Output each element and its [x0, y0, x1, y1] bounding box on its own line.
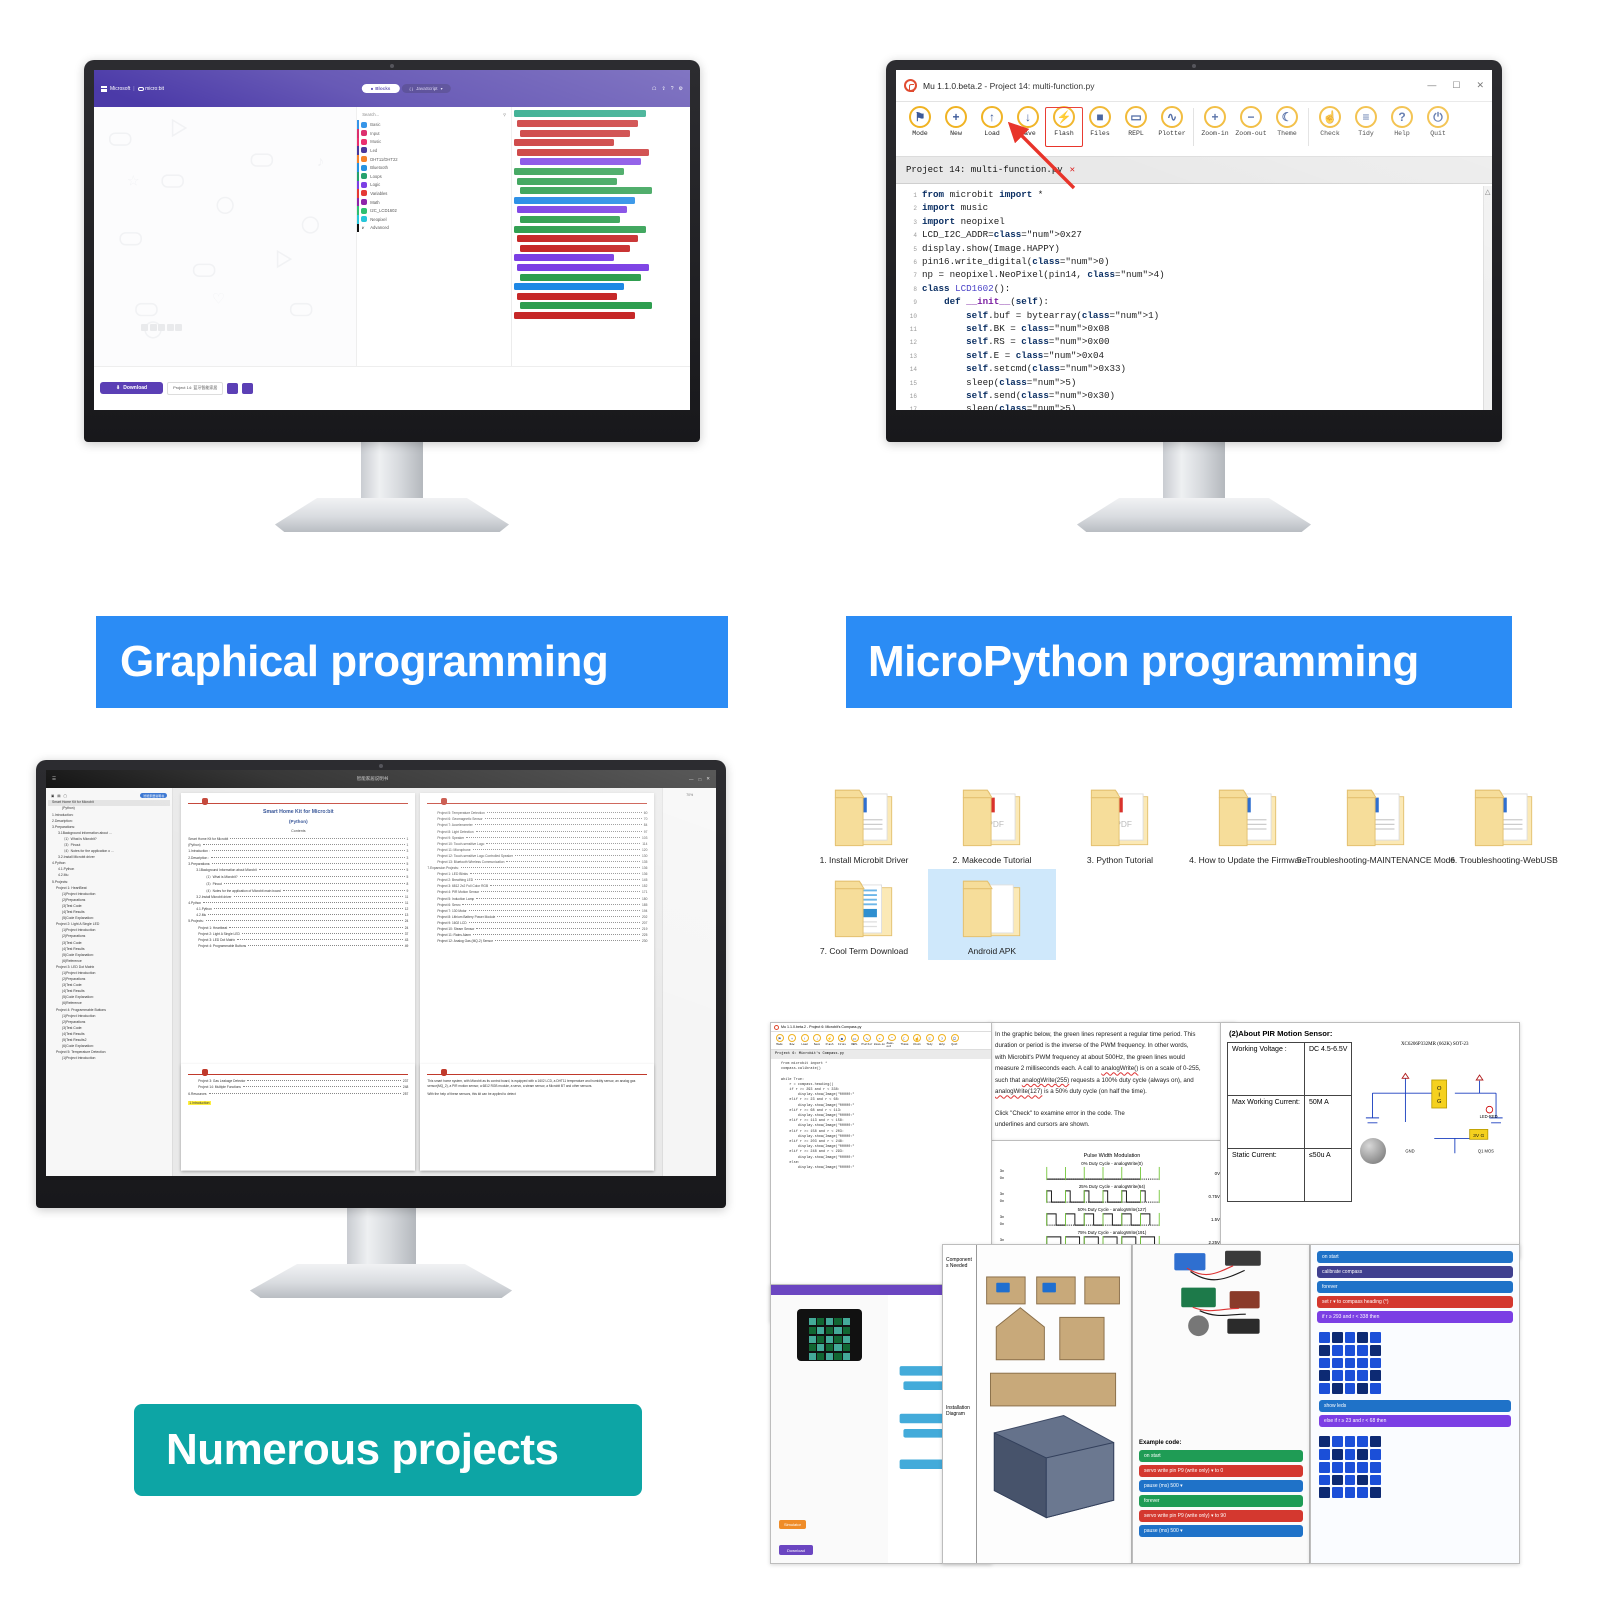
stop-icon[interactable]: [141, 324, 148, 331]
pdf-toc-row[interactable]: 5.Projects:24: [188, 919, 408, 923]
screen-makecode: Microsoft | micro:bit ■ Blocks: [94, 70, 690, 410]
pdf-right-toolbar[interactable]: 70%: [662, 788, 716, 1176]
code-line[interactable]: import neopixel: [922, 215, 1483, 228]
pdf-toc-row[interactable]: Project 3: LED Dot Matrix43: [188, 938, 408, 942]
pdf-outline-item[interactable]: (1)Project Introduction: [48, 1056, 170, 1062]
pdf-zoom-level[interactable]: 70%: [663, 793, 716, 797]
close-button[interactable]: ✕: [1476, 80, 1484, 91]
pdf-toc-row[interactable]: Project 5: Induction Lamp180: [427, 897, 647, 901]
mu-file-tab[interactable]: Project 14: multi-function.py ✕: [896, 157, 1492, 184]
pdf-toc-row[interactable]: Smart Home Kit for Microbit1: [188, 837, 408, 841]
pdf-toc-row[interactable]: 3.1Background Information about Microbit…: [188, 868, 408, 872]
settings-button[interactable]: [242, 383, 253, 394]
code-line[interactable]: from microbit import *: [922, 188, 1483, 201]
zoom-out-icon: −: [1240, 106, 1262, 128]
pdf-toc-row[interactable]: Project 8: Light Detection97: [427, 830, 647, 834]
mu-mini-tool-tidy[interactable]: ≡Tidy: [924, 1034, 935, 1047]
mu-tool-zoom-out[interactable]: −Zoom-out: [1233, 106, 1269, 153]
makecode-bottombar: ⬇ Download Project 14: 蓝牙智能家居: [94, 366, 690, 410]
pdf-toc-row[interactable]: Project 11: Rains Alarm225: [427, 933, 647, 937]
pwm-y-axis: 3v0v: [995, 1190, 1004, 1204]
folder-label: 6. Troubleshooting-WebUSB: [1450, 855, 1558, 865]
mute-icon[interactable]: [167, 324, 174, 331]
mu-mini-tool-files[interactable]: ■Files: [837, 1034, 848, 1047]
makecode-block[interactable]: on start: [1139, 1450, 1303, 1462]
restart-icon[interactable]: [150, 324, 157, 331]
code-block[interactable]: [514, 254, 614, 261]
banner-micropython-programming: MicroPython programming: [846, 616, 1512, 708]
share-icon[interactable]: ⇪: [662, 86, 666, 92]
pdf-toc-title: 6.Resources: [188, 1092, 206, 1096]
toolbox-category-neopixel[interactable]: Neopixel: [357, 215, 511, 224]
pdf-toc-row[interactable]: Project 13: Bluetooth Wireless Communica…: [427, 860, 647, 864]
pdf-toc-row[interactable]: Project 10: Touch-sensitive Logo114: [427, 842, 647, 846]
mu-tool-flash[interactable]: ⚡Flash: [1046, 106, 1082, 153]
pdf-toc-dots: [248, 945, 403, 946]
folder-icon: PDF: [956, 784, 1028, 850]
folder-item[interactable]: 7. Cool Term Download: [800, 869, 928, 960]
mu-mini-tool-check[interactable]: ☝Check: [912, 1034, 923, 1047]
mu-mini-tool-quit[interactable]: ⏻Quit: [949, 1034, 960, 1047]
mu-mini-tool-help[interactable]: ?Help: [937, 1034, 948, 1047]
mu-mini-title: Mu 1.1.0.beta.2 - Project 6: Microbit's …: [781, 1025, 861, 1029]
question-icon: ?: [938, 1034, 946, 1042]
pdf-toc-page: 135: [642, 860, 647, 864]
pdf-toc-row[interactable]: 4.1.Python12: [188, 907, 408, 911]
makecode-block[interactable]: else if r ≥ 23 and r < 68 then: [1319, 1415, 1511, 1427]
mu-mini-code-line[interactable]: display.show(Image("00000:": [781, 1166, 988, 1171]
monitor-bezel-makecode: Microsoft | micro:bit ■ Blocks: [84, 60, 700, 442]
pdf-toc-page: 24: [405, 926, 409, 930]
mu-mini-tab[interactable]: Project 6: Microbit's Compass.py: [771, 1050, 991, 1059]
pdf-toc-dots: [495, 940, 640, 941]
compass-block-list-2: show ledselse if r ≥ 23 and r < 68 then: [1311, 1394, 1519, 1436]
code-block[interactable]: [520, 302, 652, 309]
category-icon: [361, 130, 367, 136]
code-line[interactable]: LCD_I2C_ADDR=class="num">0x27: [922, 228, 1483, 241]
category-icon: [361, 173, 367, 179]
category-icon: [361, 156, 367, 162]
code-block[interactable]: [517, 206, 627, 213]
code-line[interactable]: sleep(class="num">5): [922, 376, 1483, 389]
mu-code-area[interactable]: 123456789101112131415161718 from microbi…: [896, 184, 1492, 410]
pir-spec-row: Max Working Current:50M A: [1228, 1096, 1352, 1149]
pdf-toc-title: Project 12: Touch-sensitive Logo Control…: [427, 854, 513, 858]
toolbox-category-music[interactable]: Music: [357, 138, 511, 147]
code-block[interactable]: [517, 293, 617, 300]
pdf-toc-title: 4.1.Python: [188, 907, 212, 911]
pir-spec-key: Max Working Current:: [1228, 1096, 1305, 1149]
mu-mini-tool-label: Tidy: [926, 1043, 932, 1046]
thumbs-up-icon: ☝: [1319, 106, 1341, 128]
mu-tool-quit[interactable]: ⏻Quit: [1420, 106, 1456, 153]
screen-mu: Mu 1.1.0.beta.2 - Project 14: multi-func…: [896, 70, 1492, 410]
home-icon[interactable]: ☖: [652, 86, 656, 92]
monitor-neck: [361, 442, 423, 498]
pdf-toc-page: 43: [405, 938, 409, 942]
mu-mini-tool-label: Load: [801, 1043, 807, 1046]
pdf-toc-row[interactable]: Project 4: Programmable Buttons49: [188, 944, 408, 948]
folder-item[interactable]: 1. Install Microbit Driver: [800, 778, 928, 869]
pdf-toc-row[interactable]: Project 5: Temperature Detection60: [427, 811, 647, 815]
project-name-input[interactable]: Project 14: 蓝牙智能家居: [167, 382, 223, 395]
code-block[interactable]: [517, 178, 617, 185]
screenshot-collage: In the graphic below, the green lines re…: [770, 1022, 1570, 1562]
code-line[interactable]: self.buf = bytearray(class="num">1): [922, 309, 1483, 322]
makecode-block[interactable]: forever: [1317, 1281, 1513, 1293]
download-button[interactable]: ⬇ Download: [100, 382, 163, 394]
mu-tool-check[interactable]: ☝Check: [1312, 106, 1348, 153]
pwm-y-high: 3v: [995, 1167, 1004, 1174]
line-number-gutter: 123456789101112131415161718: [896, 186, 922, 410]
block-stack[interactable]: [512, 107, 690, 410]
code-block[interactable]: [514, 226, 646, 233]
pdf-toc-title: Project 4: Programmable Buttons: [188, 944, 246, 948]
code-line[interactable]: def __init__(self):: [922, 295, 1483, 308]
flag-icon: ⚑: [776, 1034, 784, 1042]
pdf-toc-row[interactable]: Project 6: Servo185: [427, 903, 647, 907]
code-line[interactable]: import music: [922, 201, 1483, 214]
slow-motion-icon[interactable]: [158, 324, 165, 331]
mu-mini-code[interactable]: from microbit import *compass.calibrate(…: [771, 1059, 991, 1174]
folder-label: Android APK: [968, 946, 1016, 956]
pdf-toc-title: Project 12: Analog Gas (MQ-2) Sensor: [427, 939, 493, 943]
mu-tool-files[interactable]: ■Files: [1082, 106, 1118, 153]
toolbox-category-dht11-dht22[interactable]: DHT11/DHT22: [357, 155, 511, 164]
mu-mini-tool-label: Mode: [776, 1043, 782, 1046]
outline-icon[interactable]: ▤: [57, 794, 60, 798]
tab-close-icon[interactable]: ✕: [1070, 165, 1075, 175]
code-block[interactable]: [514, 168, 624, 175]
example-code-title: Example code:: [1139, 1440, 1303, 1446]
pdf-toc-title: Project 6: Geomagnetic Sensor: [427, 817, 482, 821]
pdf-toc-page: 9: [407, 889, 409, 893]
pdf-toc-row[interactable]: 1.Introduction :3: [188, 849, 408, 853]
toolbox-category-input[interactable]: Input: [357, 129, 511, 138]
upload-icon: ↑: [981, 106, 1003, 128]
code-block[interactable]: [520, 187, 652, 194]
pwm-description-text: In the graphic below, the green lines re…: [989, 1023, 1235, 1137]
pdf-toc-title: 3.Preparations:: [188, 862, 210, 866]
code-block[interactable]: [517, 264, 649, 271]
search-input[interactable]: Search... ⚲: [357, 110, 511, 120]
code-line[interactable]: np = neopixel.NeoPixel(pin14, class="num…: [922, 268, 1483, 281]
pdf-toc-row[interactable]: （3）Pinout8: [188, 881, 408, 886]
pdf-toc-row[interactable]: Project 1: LED Blinks136: [427, 872, 647, 876]
pdf-toc-dots: [209, 1093, 401, 1094]
pdf-toc-row[interactable]: 7.Expansion Projects:136: [427, 866, 647, 870]
makecode-block[interactable]: pause (ms) 500 ▾: [1139, 1525, 1303, 1537]
svg-text:G: G: [1437, 1099, 1442, 1105]
mu-tool-zoom-in[interactable]: +Zoom-in: [1197, 106, 1233, 153]
code-block[interactable]: [514, 283, 624, 290]
makecode-block[interactable]: forever: [1139, 1495, 1303, 1507]
mu-mini-tool-flash[interactable]: ⚡Flash: [824, 1034, 835, 1047]
pdf-toc-title: Project 3: LED Dot Matrix: [188, 938, 235, 942]
code-block[interactable]: [514, 110, 646, 117]
pdf-toc-dots: [476, 831, 642, 832]
makecode-block[interactable]: set r ▾ to compass heading (°): [1317, 1296, 1513, 1308]
pdf-toc-row[interactable]: Project 7: Accelerometer84: [427, 823, 647, 827]
code-line[interactable]: self.E = class="num">0x04: [922, 349, 1483, 362]
mu-mini-tool-repl[interactable]: ▭REPL: [849, 1034, 860, 1047]
pdf-toc-row[interactable]: 4.Python11: [188, 901, 408, 905]
pdf-toc-row[interactable]: Project 12: Analog Gas (MQ-2) Sensor230: [427, 939, 647, 943]
toolbox-category-advanced[interactable]: ∨Advanced: [357, 224, 511, 233]
folder-item[interactable]: PDF3. Python Tutorial: [1056, 778, 1184, 869]
pdf-toc-row[interactable]: Project 3: 6812 2x2 Full Color RGB152: [427, 884, 647, 888]
category-label: Basic: [370, 122, 380, 127]
pdf-toc-row[interactable]: 3.Preparations:5: [188, 862, 408, 866]
code-block[interactable]: [520, 245, 630, 252]
pwm-y-high: 3v: [995, 1190, 1004, 1197]
pir-spec-key: Working Voltage :: [1228, 1043, 1305, 1096]
keyestudio-logo-icon: [202, 798, 208, 805]
tab-blocks[interactable]: ■ Blocks: [362, 84, 400, 93]
makecode-block[interactable]: pause (ms) 500 ▾: [1139, 1480, 1303, 1492]
pdf-toc-row[interactable]: Project 3: Gas Leakage Detector237: [188, 1079, 408, 1083]
monitor-neck: [347, 1208, 416, 1264]
code-text[interactable]: from microbit import *import musicimport…: [922, 186, 1483, 410]
pir-circuit-icon: O I G 3V G Q1 MOS GND LED-RED: [1356, 1047, 1513, 1197]
mini-download-button[interactable]: Download: [779, 1545, 813, 1555]
code-block[interactable]: [514, 197, 635, 204]
pdf-toc-title: 7.Expansion Projects:: [427, 866, 458, 870]
code-line[interactable]: sleep(class="num">5): [922, 402, 1483, 410]
pdf-toc-row[interactable]: Project 10: Steam Sensor219: [427, 927, 647, 931]
pdf-toc-page: 5: [407, 875, 409, 879]
code-block[interactable]: [520, 158, 641, 165]
toolbox-category-math[interactable]: Math: [357, 198, 511, 207]
pdf-toc-row[interactable]: Project 14: Multiple Functions248: [188, 1085, 408, 1089]
mu-mini-tool-zoom-out[interactable]: −Zoom-out: [887, 1034, 898, 1047]
code-block[interactable]: [514, 312, 635, 319]
code-block[interactable]: [520, 216, 620, 223]
folder-item[interactable]: PDF2. Makecode Tutorial: [928, 778, 1056, 869]
pwm-y-axis: 3v0v: [995, 1167, 1004, 1181]
pdf-toc-row[interactable]: 2.Description :3: [188, 856, 408, 860]
toolbox-category-i2c-lcd1602[interactable]: I2C_LCD1602: [357, 206, 511, 215]
code-block[interactable]: [514, 139, 614, 146]
code-line[interactable]: self.RS = class="num">0x00: [922, 335, 1483, 348]
pdf-toc-row[interactable]: （4）Notes for the application of Microbit…: [188, 888, 408, 893]
pdf-contents-label: Contents: [188, 829, 408, 833]
monitor-neck: [1163, 442, 1225, 498]
pdf-toc-row[interactable]: Project 2: Breathing LED145: [427, 878, 647, 882]
pdf-toc-dots: [487, 812, 642, 813]
mu-mini-toolbar[interactable]: ⚑Mode+New↑Load↓Save⚡Flash■Files▭REPL∿Plo…: [771, 1032, 991, 1050]
code-line[interactable]: class LCD1602():: [922, 282, 1483, 295]
pdf-maximize-icon[interactable]: □: [699, 777, 702, 782]
pwm-voltage: 0.75V: [1202, 1194, 1220, 1199]
pdf-toc-row[interactable]: (Python)1: [188, 843, 408, 847]
folder-icon: [828, 875, 900, 941]
mu-tool-tidy[interactable]: ≡Tidy: [1348, 106, 1384, 153]
scroll-up-icon[interactable]: △: [1485, 188, 1490, 196]
mu-tool-plotter[interactable]: ∿Plotter: [1154, 106, 1190, 153]
mu-tool-theme[interactable]: ☾Theme: [1269, 106, 1305, 153]
search-icon: ⚲: [503, 112, 506, 117]
moon-icon: ☾: [1276, 106, 1298, 128]
vertical-scrollbar[interactable]: △: [1483, 186, 1492, 410]
makecode-block[interactable]: servo write pin P9 (write only) ▾ to 0: [1139, 1465, 1303, 1477]
pdf-toc-row[interactable]: Project 6: Geomagnetic Sensor70: [427, 817, 647, 821]
toolbox-category-led[interactable]: Led: [357, 146, 511, 155]
pwm-chart-row: 50% Duty Cycle - analogWrite(127)3v0v1.5…: [995, 1207, 1229, 1227]
code-block[interactable]: [517, 149, 649, 156]
pdf-toc-page: 5: [407, 862, 409, 866]
pwm-y-low: 0v: [995, 1220, 1004, 1227]
code-line[interactable]: pin16.write_digital(class="num">0): [922, 255, 1483, 268]
wiring-photo-icon: [1133, 1245, 1309, 1429]
pdf-toc-dots: [485, 818, 642, 819]
mu-mini-tool-label: Zoom-in: [874, 1043, 885, 1046]
pir-spec-value: 50M A: [1304, 1096, 1352, 1149]
code-block[interactable]: [520, 130, 630, 137]
bookmark-icon[interactable]: ▢: [63, 794, 66, 798]
pdf-toc-row[interactable]: Project 8: Lithium Battery Power Module2…: [427, 915, 647, 919]
makecode-block[interactable]: calibrate compass: [1317, 1266, 1513, 1278]
pdf-toc-page: 130: [642, 854, 647, 858]
pwm-chart-row: 0% Duty Cycle - analogWrite(0)3v0v0V: [995, 1161, 1229, 1181]
help-icon[interactable]: ?: [671, 86, 674, 92]
code-line[interactable]: display.show(Image.HAPPY): [922, 242, 1483, 255]
minimize-button[interactable]: —: [1427, 80, 1436, 91]
pdf-toc-title: Project 9: 1602 LCD: [427, 921, 466, 925]
mu-mini-tool-load[interactable]: ↑Load: [799, 1034, 810, 1047]
app-menu-icon[interactable]: ☰: [52, 776, 56, 782]
category-label: Logic: [370, 182, 380, 187]
pdf-toc-row[interactable]: Project 12: Touch-sensitive Logo Control…: [427, 854, 647, 858]
pdf-toc-title: Project 3: Gas Leakage Detector: [188, 1079, 245, 1083]
pdf-toc-page: 11: [405, 901, 408, 905]
microsoft-logo: Microsoft | micro:bit: [101, 86, 164, 92]
mu-mini-tool-zoom-in[interactable]: +Zoom-in: [874, 1034, 885, 1047]
line-number: 7: [896, 269, 917, 282]
mu-tool-load[interactable]: ↑Load: [974, 106, 1010, 153]
toolbox-category-logic[interactable]: Logic: [357, 181, 511, 190]
pir-title: (2)About PIR Motion Sensor:: [1221, 1023, 1519, 1042]
pdf-toc-title: Project 8: Light Detection: [427, 830, 473, 834]
pdf-close-icon[interactable]: ✕: [706, 776, 710, 782]
fullscreen-icon[interactable]: [175, 324, 182, 331]
mu-tool-save[interactable]: ↓Save: [1010, 106, 1046, 153]
folder-icon: [828, 784, 900, 850]
mu-tool-new[interactable]: +New: [938, 106, 974, 153]
pdf-toc-row[interactable]: Project 9: 1602 LCD207: [427, 921, 647, 925]
mu-tool-repl[interactable]: ▭REPL: [1118, 106, 1154, 153]
folder-items[interactable]: 1. Install Microbit DriverPDF2. Makecode…: [800, 778, 1570, 960]
pdf-toc-page: 24: [405, 919, 409, 923]
pir-spec-key: Static Current:: [1228, 1149, 1305, 1202]
category-icon: [361, 139, 367, 145]
maximize-button[interactable]: ☐: [1452, 80, 1460, 91]
code-line[interactable]: self.BK = class="num">0x08: [922, 322, 1483, 335]
makecode-block[interactable]: servo write pin P9 (write only) ▾ to 90: [1139, 1510, 1303, 1522]
pdf-page-header: [427, 1070, 647, 1075]
code-block[interactable]: [517, 120, 638, 127]
toolbox-category-bluetooth[interactable]: Bluetooth: [357, 163, 511, 172]
makecode-block[interactable]: if r ≥ 293 and r < 338 then: [1317, 1311, 1513, 1323]
mu-mini-tool-mode[interactable]: ⚑Mode: [774, 1034, 785, 1047]
pdf-outline-sidebar[interactable]: ▣ ▤ ▢ 智能家居说明书 Smart Home Kit for Microbi…: [46, 788, 173, 1176]
pdf-toc-row[interactable]: Project 4: PIR Motion Sensor171: [427, 890, 647, 894]
gear-icon[interactable]: ⚙: [679, 86, 683, 92]
pdf-toc-row[interactable]: Project 1: Heartbeat24: [188, 926, 408, 930]
makecode-block[interactable]: on start: [1317, 1251, 1513, 1263]
pdf-toc-row[interactable]: 3.2.Install Microbit driver11: [188, 895, 408, 899]
pir-spec-table: Working Voltage :DC 4.5-6.5VMax Working …: [1227, 1042, 1352, 1202]
simulator-controls[interactable]: [141, 324, 182, 331]
mu-tool-label: Zoom-out: [1235, 130, 1266, 137]
mu-tool-help[interactable]: ?Help: [1384, 106, 1420, 153]
pdf-toc-dots: [473, 934, 640, 935]
thumbnail-icon[interactable]: ▣: [51, 794, 54, 798]
mu-mini-tool-save[interactable]: ↓Save: [812, 1034, 823, 1047]
code-block[interactable]: [520, 274, 641, 281]
pdf-toc-dots: [203, 844, 405, 845]
mu-mini-tool-label: Save: [814, 1043, 820, 1046]
pdf-doc-title: Smart Home Kit for Micro:bit: [188, 809, 408, 815]
folder-item[interactable]: 5. Troubleshooting-MAINTENANCE Mode: [1312, 778, 1440, 869]
mu-mini-tool-label: New: [790, 1043, 795, 1046]
code-line[interactable]: self.setcmd(class="num">0x33): [922, 362, 1483, 375]
plus-icon: +: [788, 1034, 796, 1042]
mu-mini-tool-theme[interactable]: ☾Theme: [899, 1034, 910, 1047]
save-button[interactable]: [227, 383, 238, 394]
toolbox-category-basic[interactable]: Basic: [357, 120, 511, 129]
pdf-minimize-icon[interactable]: —: [689, 777, 694, 782]
makecode-block-workspace[interactable]: [511, 107, 690, 410]
folder-item[interactable]: Android APK: [928, 869, 1056, 960]
folder-item[interactable]: 6. Troubleshooting-WebUSB: [1440, 778, 1568, 869]
code-line[interactable]: self.send(class="num">0x30): [922, 389, 1483, 402]
folder-item[interactable]: 4. How to Update the Firmware: [1184, 778, 1312, 869]
mu-tool-label: Quit: [1430, 130, 1446, 137]
pdf-toc-row[interactable]: Project 11: Microphone120: [427, 848, 647, 852]
wave-icon: ∿: [1161, 106, 1183, 128]
mu-mini-tool-new[interactable]: +New: [787, 1034, 798, 1047]
makecode-block[interactable]: show leds: [1319, 1400, 1511, 1412]
pdf-outline-list[interactable]: Smart Home Kit for Microbit(Python)1.Int…: [48, 800, 170, 1062]
mu-tool-mode[interactable]: ⚑Mode: [902, 106, 938, 153]
installation-label: Installation Diagram: [946, 1405, 973, 1417]
pwm-waveform-icon: [1007, 1166, 1199, 1181]
pdf-toc-page: 1: [407, 837, 409, 841]
toolbox-category-loops[interactable]: Loops: [357, 172, 511, 181]
pdf-toc-title: Project 5: Induction Lamp: [427, 897, 474, 901]
mu-mini-tool-plotter[interactable]: ∿Plotter: [862, 1034, 873, 1047]
svg-text:Q1 MOS: Q1 MOS: [1478, 1148, 1494, 1153]
monitor-pdf: ☰ 智能家居说明书 — □ ✕ ▣ ▤ ▢: [36, 760, 726, 1298]
pdf-toc-page: 84: [644, 823, 648, 827]
pdf-toc-title: (Python): [188, 843, 200, 847]
pdf-toc-row[interactable]: 6.Resources257: [188, 1092, 408, 1096]
pdf-toc-row[interactable]: 4.2.Mu13: [188, 913, 408, 917]
brand-label: Microsoft: [110, 86, 130, 92]
toolbox-category-variables[interactable]: Variables: [357, 189, 511, 198]
pdf-toc-row[interactable]: （1）What is Microbit?5: [188, 874, 408, 879]
pdf-toc-dots: [469, 910, 640, 911]
code-block[interactable]: [517, 235, 638, 242]
pdf-toc-row[interactable]: Project 7: 130 Motor194: [427, 909, 647, 913]
pdf-toc-row[interactable]: Project 9: Speaker103: [427, 836, 647, 840]
terminal-icon: ▭: [851, 1034, 859, 1042]
pdf-toc-row[interactable]: Project 2: Light A Single LED37: [188, 932, 408, 936]
pdf-toc-dots: [466, 837, 640, 838]
tab-javascript[interactable]: { } JavaScript ▾: [401, 84, 450, 93]
banner-projects-label: Numerous projects: [166, 1425, 558, 1475]
